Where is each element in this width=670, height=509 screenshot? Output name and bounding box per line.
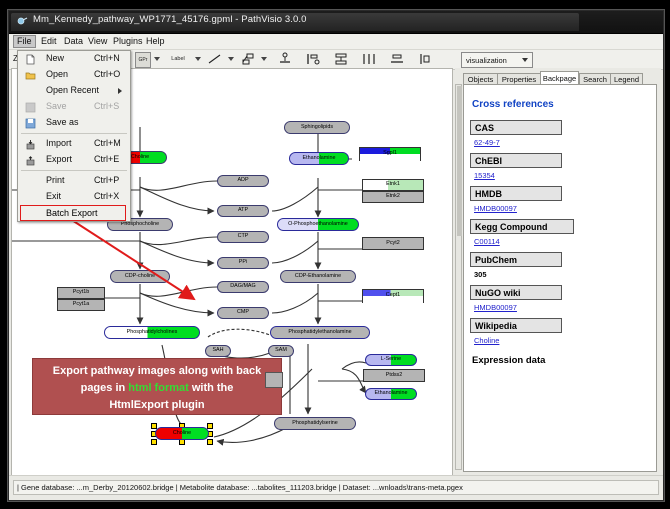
selection-handle-sw[interactable] xyxy=(151,439,157,445)
callout-highlight: html format xyxy=(128,382,189,394)
pathway-node-l-serine[interactable]: L-Serine xyxy=(365,354,417,366)
pathvisio-icon xyxy=(17,16,28,27)
xref-db-kegg: Kegg Compound xyxy=(470,219,574,234)
menu-file[interactable]: File xyxy=(13,35,36,48)
pathway-gene-cept1[interactable]: Cept1 xyxy=(362,289,424,303)
pathway-node-ppi[interactable]: PPi xyxy=(217,257,269,269)
callout-line3: HtmlExport plugin xyxy=(33,397,281,414)
menu-item-print[interactable]: Print Ctrl+P xyxy=(18,173,130,189)
xref-value-chebi[interactable]: 15354 xyxy=(474,171,652,180)
pathway-node-ethanolamine-bottom[interactable]: Ethanolamine xyxy=(365,388,417,400)
pathway-node-ctp[interactable]: CTP xyxy=(217,231,269,243)
menu-item-exit-accel: Ctrl+X xyxy=(94,191,119,201)
label-dropdown-icon[interactable] xyxy=(195,57,201,61)
menu-item-print-label: Print xyxy=(46,175,65,185)
menu-item-export-accel: Ctrl+E xyxy=(94,154,119,164)
menubar: File Edit Data View Plugins Help xyxy=(9,34,663,50)
callout-line1: Export pathway images along with back xyxy=(33,363,281,380)
visualization-select[interactable]: visualization xyxy=(461,52,533,68)
pathway-gene-pcyt1a[interactable]: Pcyt1a xyxy=(57,299,105,311)
pathway-node-ethanolamine-top[interactable]: Ethanolamine xyxy=(289,152,349,165)
pathway-node-adp[interactable]: ADP xyxy=(217,175,269,187)
menu-item-import-label: Import xyxy=(46,138,72,148)
align-left-icon[interactable] xyxy=(305,52,321,66)
chevron-down-icon xyxy=(522,58,528,62)
sidebar-scrollbar[interactable] xyxy=(455,84,462,470)
file-menu-dropdown[interactable]: New Ctrl+N Open Ctrl+O Open Recent Save … xyxy=(17,50,131,222)
pathway-node-atp[interactable]: ATP xyxy=(217,205,269,217)
xref-value-nugo[interactable]: HMDB00097 xyxy=(474,303,652,312)
pathway-node-phosphatidylserine[interactable]: Phosphatidylserine xyxy=(274,417,356,430)
open-folder-icon xyxy=(25,70,36,81)
menu-item-save-as[interactable]: Save as xyxy=(18,115,130,131)
pathway-node-sah[interactable]: SAH xyxy=(205,345,231,357)
expression-data-heading: Expression data xyxy=(472,355,652,366)
distribute-icon[interactable] xyxy=(361,52,377,66)
xref-link-hmdb[interactable]: HMDB00097 xyxy=(474,204,517,213)
menu-separator-1 xyxy=(21,133,127,134)
pathway-gene-ptdss2[interactable]: Ptdss2 xyxy=(363,369,425,382)
selection-handle-ne[interactable] xyxy=(207,423,213,429)
pathway-gene-pcyt1b[interactable]: Pcyt1b xyxy=(57,287,105,299)
same-width-icon[interactable] xyxy=(389,52,405,66)
backpage-content: Cross references CAS 62-49-7 ChEBI 15354… xyxy=(470,91,652,366)
callout-line2-b: with the xyxy=(189,382,234,394)
xref-db-pubchem: PubChem xyxy=(470,252,562,267)
xref-link-chebi[interactable]: 15354 xyxy=(474,171,495,180)
menu-item-new[interactable]: New Ctrl+N xyxy=(18,51,130,67)
menu-item-batch-export[interactable]: Batch Export xyxy=(18,205,130,221)
callout-line2-a: pages in xyxy=(81,382,129,394)
menu-plugins[interactable]: Plugins xyxy=(109,35,147,48)
import-icon xyxy=(25,139,36,150)
sidebar-scroll-thumb[interactable] xyxy=(457,86,462,236)
statusbar-text: | Gene database: ...m_Derby_20120602.bri… xyxy=(13,480,659,495)
save-icon xyxy=(25,102,36,113)
stack-vertical-icon[interactable] xyxy=(333,52,349,66)
statusbar: | Gene database: ...m_Derby_20120602.bri… xyxy=(9,475,663,500)
save-as-icon xyxy=(25,118,36,129)
sidebar: Objects Properties Backpage Search Legen… xyxy=(455,68,661,474)
menu-item-import[interactable]: Import Ctrl+M xyxy=(18,136,130,152)
menu-item-export-label: Export xyxy=(46,154,72,164)
menu-item-save-accel: Ctrl+S xyxy=(94,101,119,111)
menu-view[interactable]: View xyxy=(84,35,111,48)
menu-item-import-accel: Ctrl+M xyxy=(94,138,121,148)
menu-item-open[interactable]: Open Ctrl+O xyxy=(18,67,130,83)
datanode-dropdown-icon[interactable] xyxy=(154,57,160,61)
xref-value-hmdb[interactable]: HMDB00097 xyxy=(474,204,652,213)
visualization-value: visualization xyxy=(466,56,507,65)
pathway-gene-etnk1[interactable]: Etnk1 xyxy=(362,179,424,191)
new-file-icon xyxy=(25,54,36,65)
menu-data[interactable]: Data xyxy=(60,35,87,48)
menu-edit[interactable]: Edit xyxy=(37,35,61,48)
pathway-node-phosphatidylethanolamine[interactable]: Phosphatidylethanolamine xyxy=(270,326,370,339)
batch-export-highlight-box xyxy=(20,205,126,221)
menu-item-save-label: Save xyxy=(46,101,67,111)
menu-item-open-accel: Ctrl+O xyxy=(94,69,120,79)
pathway-node-choline-bottom-selected[interactable]: Choline xyxy=(155,427,209,440)
xref-link-nugo[interactable]: HMDB00097 xyxy=(474,303,517,312)
shape-tool-button[interactable] xyxy=(240,52,256,66)
pathway-node-cdp-ethanolamine[interactable]: CDP-Ethanolamine xyxy=(280,270,356,283)
xref-link-kegg[interactable]: C00114 xyxy=(474,237,500,246)
menu-item-open-recent[interactable]: Open Recent xyxy=(18,83,130,99)
line-tool-button[interactable] xyxy=(207,52,223,66)
menu-item-exit-label: Exit xyxy=(46,191,61,201)
menu-item-new-label: New xyxy=(46,53,64,63)
backpage-panel: Cross references CAS 62-49-7 ChEBI 15354… xyxy=(463,84,657,472)
label-tool-button[interactable]: Label xyxy=(165,52,191,66)
xref-db-nugo: NuGO wiki xyxy=(470,285,562,300)
xref-db-hmdb: HMDB xyxy=(470,186,562,201)
menu-item-print-accel: Ctrl+P xyxy=(94,175,119,185)
menu-help[interactable]: Help xyxy=(142,35,169,48)
xref-value-pubchem: 305 xyxy=(474,270,652,279)
menu-separator-2 xyxy=(21,170,127,171)
annotation-callout: Export pathway images along with back pa… xyxy=(32,358,282,415)
pathway-gene-etnk2[interactable]: Etnk2 xyxy=(362,191,424,203)
menu-item-exit[interactable]: Exit Ctrl+X xyxy=(18,189,130,205)
window-titlebar: Mm_Kennedy_pathway_WP1771_45176.gpml - P… xyxy=(9,11,663,34)
pathway-node-sam[interactable]: SAM xyxy=(268,345,294,357)
menu-item-save: Save Ctrl+S xyxy=(18,99,130,115)
datanode-tool-button[interactable]: GPr xyxy=(135,52,151,68)
shape-dropdown-icon[interactable] xyxy=(261,57,267,61)
pathway-node-sphingolipids[interactable]: Sphingolipids xyxy=(284,121,350,134)
menu-item-save-as-label: Save as xyxy=(46,117,79,127)
pathvisio-window: Mm_Kennedy_pathway_WP1771_45176.gpml - P… xyxy=(8,10,664,501)
export-icon xyxy=(25,155,36,166)
window-title: Mm_Kennedy_pathway_WP1771_45176.gpml - P… xyxy=(33,14,307,25)
menu-item-open-recent-label: Open Recent xyxy=(46,85,99,95)
xref-value-cas[interactable]: 62-49-7 xyxy=(474,138,652,147)
pathway-node-dag-mag[interactable]: DAG/MAG xyxy=(217,281,269,293)
group-icon[interactable] xyxy=(417,52,433,66)
align-top-icon[interactable] xyxy=(277,52,293,66)
pathway-node-cdp-choline[interactable]: CDP-choline xyxy=(110,270,170,283)
cross-references-heading: Cross references xyxy=(472,99,652,110)
menu-item-export[interactable]: Export Ctrl+E xyxy=(18,152,130,168)
xref-db-chebi: ChEBI xyxy=(470,153,562,168)
pathway-anchor-box xyxy=(265,372,283,388)
pathway-node-cmp[interactable]: CMP xyxy=(217,307,269,319)
line-dropdown-icon[interactable] xyxy=(228,57,234,61)
screenshot-root: Mm_Kennedy_pathway_WP1771_45176.gpml - P… xyxy=(0,0,670,509)
menu-item-open-label: Open xyxy=(46,69,68,79)
xref-link-wikipedia[interactable]: Choline xyxy=(474,336,499,345)
xref-link-cas[interactable]: 62-49-7 xyxy=(474,138,500,147)
selection-handle-se[interactable] xyxy=(207,439,213,445)
xref-db-cas: CAS xyxy=(470,120,562,135)
xref-db-wikipedia: Wikipedia xyxy=(470,318,562,333)
pathway-gene-pcyt2[interactable]: Pcyt2 xyxy=(362,237,424,250)
pathway-gene-sgpl1[interactable]: Sgpl1 xyxy=(359,147,421,161)
callout-line2: pages in html format with the xyxy=(33,380,281,397)
menu-item-new-accel: Ctrl+N xyxy=(94,53,120,63)
pathway-node-phosphatidylcholines[interactable]: Phosphatidylcholines xyxy=(104,326,200,339)
xref-value-kegg[interactable]: C00114 xyxy=(474,237,652,246)
pathway-node-o-phosphoethanolamine[interactable]: O-Phosphoethanolamine xyxy=(277,218,359,231)
xref-value-wikipedia[interactable]: Choline xyxy=(474,336,652,345)
chevron-right-icon xyxy=(118,88,122,94)
